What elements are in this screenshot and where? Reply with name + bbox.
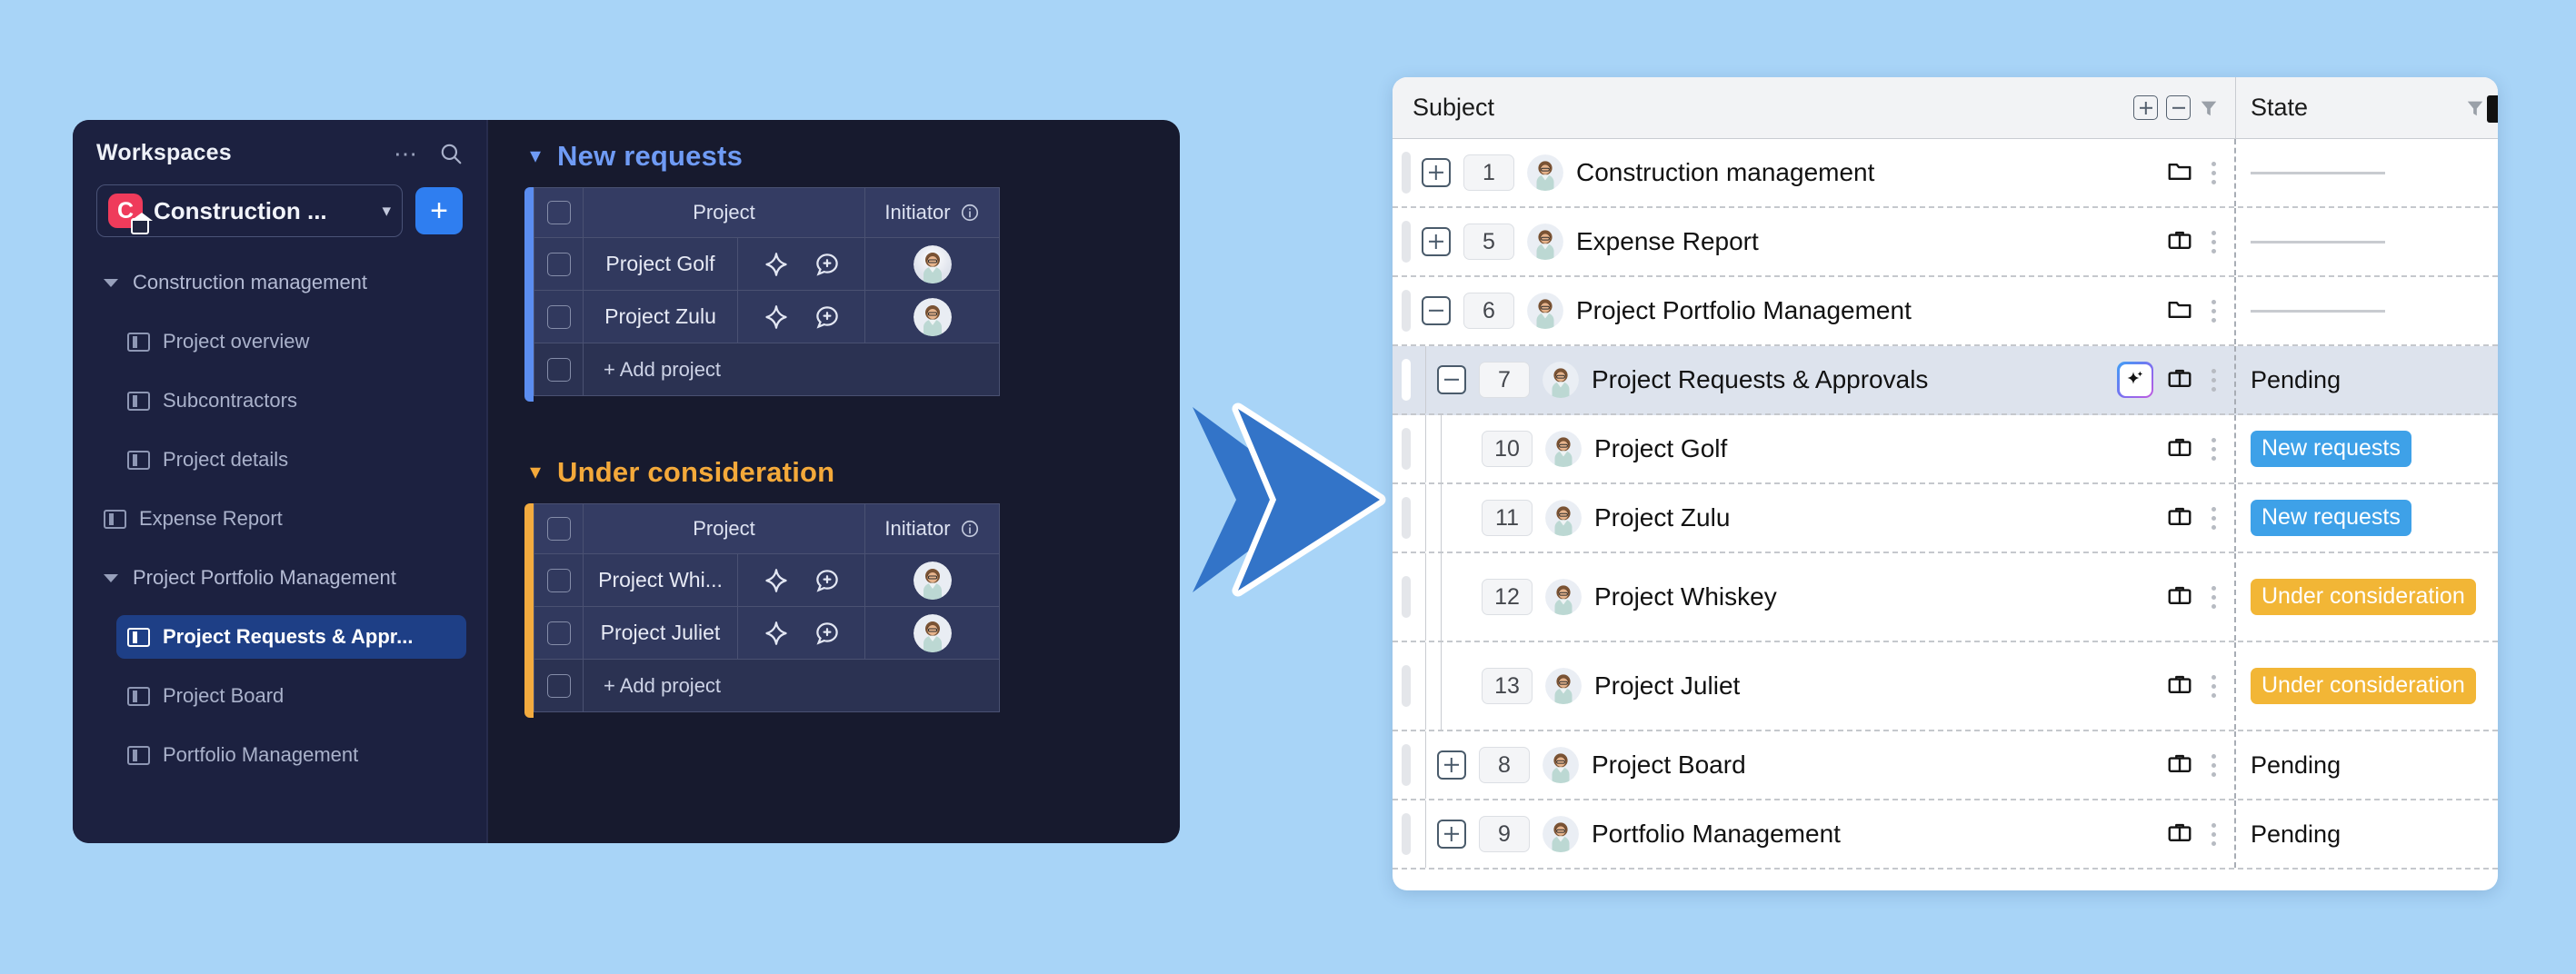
- sidebar-item-expense-report[interactable]: Expense Report: [93, 497, 466, 541]
- status-badge[interactable]: New requests: [2251, 431, 2411, 467]
- avatar: [1545, 431, 1582, 467]
- status-badge[interactable]: New requests: [2251, 500, 2411, 536]
- table-row[interactable]: Project Whi...: [534, 554, 1000, 607]
- group-header[interactable]: ▾ New requests: [488, 120, 1180, 173]
- sidebar-item-label: Project details: [163, 448, 288, 472]
- cell-initiator[interactable]: [865, 607, 1000, 660]
- briefcase-icon[interactable]: [2166, 226, 2193, 258]
- row-title: Project Whiskey: [1594, 582, 1777, 611]
- row-number: 9: [1479, 816, 1530, 852]
- row-title: Project Portfolio Management: [1576, 296, 1912, 325]
- sidebar-header: Workspaces ⋯: [73, 120, 486, 166]
- row-tools: [2166, 502, 2222, 534]
- table-row[interactable]: 12 Project Whiskey Under consideration: [1393, 553, 2498, 642]
- row-state-cell[interactable]: [2236, 139, 2498, 206]
- sparkle-icon[interactable]: [763, 251, 790, 278]
- row-checkbox[interactable]: [547, 569, 571, 592]
- select-all-checkbox[interactable]: [547, 201, 571, 224]
- row-drag-handle[interactable]: [1402, 665, 1411, 707]
- cell-initiator[interactable]: [865, 238, 1000, 291]
- briefcase-icon[interactable]: [2166, 750, 2193, 781]
- row-subject-cell: 5 Expense Report: [1393, 208, 2236, 275]
- row-tools: [2166, 295, 2222, 327]
- table-row[interactable]: Project Golf: [534, 238, 1000, 291]
- row-expander[interactable]: [1437, 365, 1466, 394]
- row-expander[interactable]: [1422, 296, 1451, 325]
- row-select-cell: [534, 660, 584, 712]
- state-empty-dash: [2251, 241, 2385, 243]
- filter-icon[interactable]: [2199, 98, 2219, 118]
- sidebar-item-label: Portfolio Management: [163, 743, 358, 767]
- sidebar-title: Workspaces: [96, 140, 232, 166]
- status-badge[interactable]: Under consideration: [2251, 579, 2476, 615]
- row-title: Project Golf: [1594, 434, 1727, 463]
- row-subject-cell: 6 Project Portfolio Management: [1393, 277, 2236, 344]
- state-value: Pending: [2251, 751, 2341, 780]
- add-project-label[interactable]: + Add project: [584, 660, 1000, 712]
- page-panel-icon: [127, 451, 150, 470]
- row-checkbox[interactable]: [547, 674, 571, 698]
- avatar: [1527, 224, 1563, 260]
- row-number: 8: [1479, 747, 1530, 783]
- row-state-cell[interactable]: [2236, 277, 2498, 344]
- row-subject-cell: 10 Project Golf: [1393, 415, 2236, 482]
- row-drag-handle[interactable]: [1402, 497, 1411, 539]
- workspace-name: Construction ...: [154, 197, 327, 225]
- row-menu-icon[interactable]: [2206, 823, 2222, 846]
- home-icon: [131, 218, 149, 234]
- row-state-cell[interactable]: Under consideration: [2236, 642, 2498, 730]
- group-table-wrap: Project Initiator Project Golf: [524, 187, 1180, 396]
- row-state-cell[interactable]: New requests: [2236, 415, 2498, 482]
- table-row[interactable]: 7 Project Requests & Approvals: [1393, 346, 2498, 415]
- row-menu-icon[interactable]: [2206, 300, 2222, 323]
- row-menu-icon[interactable]: [2206, 231, 2222, 253]
- folder-icon[interactable]: [2166, 295, 2193, 327]
- sidebar-item-label: Project overview: [163, 330, 309, 353]
- row-menu-icon[interactable]: [2206, 675, 2222, 698]
- row-title: Portfolio Management: [1592, 820, 1841, 849]
- table-row[interactable]: Project Zulu: [534, 291, 1000, 343]
- row-subject-cell: 1 Construction management: [1393, 139, 2236, 206]
- chevron-down-icon[interactable]: ▾: [530, 145, 541, 167]
- column-header-subject-label: Subject: [1413, 94, 1494, 122]
- row-tools: [2166, 157, 2222, 189]
- row-tools: [2166, 226, 2222, 258]
- row-state-cell[interactable]: Under consideration: [2236, 553, 2498, 641]
- row-number: 1: [1463, 154, 1514, 191]
- row-expander[interactable]: [1437, 820, 1466, 849]
- cell-row-actions: [738, 291, 865, 343]
- column-header-initiator[interactable]: Initiator: [865, 504, 1000, 554]
- row-checkbox[interactable]: [547, 358, 571, 382]
- row-number: 5: [1463, 224, 1514, 260]
- sidebar-item-label: Project Requests & Appr...: [163, 625, 413, 649]
- group-accent-bar: [524, 503, 534, 718]
- sidebar-item-project-overview[interactable]: Project overview: [116, 320, 466, 363]
- add-project-label[interactable]: + Add project: [584, 343, 1000, 396]
- row-number: 12: [1482, 579, 1533, 615]
- state-empty-dash: [2251, 310, 2385, 313]
- table-row[interactable]: 5 Expense Report: [1393, 208, 2498, 277]
- group-header[interactable]: ▾ Under consideration: [488, 436, 1180, 489]
- comment-add-icon[interactable]: [814, 567, 841, 594]
- row-drag-handle[interactable]: [1402, 152, 1411, 194]
- row-tools: [2166, 581, 2222, 613]
- row-subject-cell: 9 Portfolio Management: [1393, 800, 2236, 868]
- info-icon[interactable]: [960, 203, 980, 223]
- sparkle-icon[interactable]: [763, 567, 790, 594]
- cell-project-name[interactable]: Project Golf: [584, 238, 738, 291]
- avatar: [1545, 668, 1582, 704]
- page-panel-icon: [127, 628, 150, 647]
- row-tools: [2117, 362, 2222, 398]
- table-header-row: Project Initiator: [534, 504, 1000, 554]
- page-panel-icon: [127, 333, 150, 352]
- tree-guide-line: [1425, 800, 1426, 868]
- avatar: [914, 614, 952, 652]
- cell-row-actions: [738, 554, 865, 607]
- row-drag-handle[interactable]: [1402, 428, 1411, 470]
- more-horizontal-icon[interactable]: ⋯: [394, 147, 419, 160]
- row-subject-cell: 13 Project Juliet: [1393, 642, 2236, 730]
- row-expander[interactable]: [1422, 227, 1451, 256]
- table-header-row: Project Initiator: [534, 188, 1000, 238]
- cell-project-name[interactable]: Project Whi...: [584, 554, 738, 607]
- cell-row-actions: [738, 607, 865, 660]
- row-checkbox[interactable]: [547, 621, 571, 645]
- row-title: Construction management: [1576, 158, 1874, 187]
- row-title: Project Board: [1592, 750, 1746, 780]
- row-drag-handle[interactable]: [1402, 290, 1411, 332]
- comment-add-icon[interactable]: [814, 303, 841, 331]
- tree-guide-line: [1441, 553, 1442, 641]
- row-title: Project Juliet: [1594, 671, 1740, 701]
- add-project-row[interactable]: + Add project: [534, 660, 1000, 712]
- board-group-new-requests: ▾ New requests Project Ini: [488, 120, 1180, 396]
- row-expander[interactable]: [1422, 158, 1451, 187]
- sidebar-item-label: Expense Report: [139, 507, 283, 531]
- grid-card: Subject State: [1393, 77, 2498, 890]
- avatar: [1527, 293, 1563, 329]
- avatar: [1543, 816, 1579, 852]
- board-group-under-consideration: ▾ Under consideration Project: [488, 436, 1180, 712]
- column-header-project[interactable]: Project: [584, 504, 865, 554]
- state-empty-dash: [2251, 172, 2385, 174]
- row-tools: [2166, 750, 2222, 781]
- briefcase-icon[interactable]: [2166, 364, 2193, 396]
- row-state-cell[interactable]: [2236, 208, 2498, 275]
- sidebar-item-label: Project Board: [163, 684, 284, 708]
- board-main: ▾ New requests Project Ini: [488, 120, 1180, 843]
- cell-initiator[interactable]: [865, 554, 1000, 607]
- add-workspace-button[interactable]: +: [415, 187, 463, 234]
- row-state-cell[interactable]: New requests: [2236, 484, 2498, 552]
- group-title: Under consideration: [557, 456, 834, 489]
- chevron-down-icon: [104, 279, 118, 287]
- column-header-initiator[interactable]: Initiator: [865, 188, 1000, 238]
- row-state-cell[interactable]: Pending: [2236, 731, 2498, 799]
- briefcase-icon[interactable]: [2166, 581, 2193, 613]
- cell-row-actions: [738, 238, 865, 291]
- sidebar-item-project-details[interactable]: Project details: [116, 438, 466, 482]
- table-row[interactable]: 1 Construction management: [1393, 139, 2498, 208]
- group-table: Project Initiator Project Golf: [534, 187, 1000, 396]
- chevron-down-icon: [104, 574, 118, 582]
- row-menu-icon[interactable]: [2206, 438, 2222, 461]
- row-tools: [2166, 671, 2222, 702]
- state-value: Pending: [2251, 820, 2341, 849]
- row-menu-icon[interactable]: [2206, 369, 2222, 392]
- sidebar-item-label: Construction management: [133, 271, 367, 294]
- collapse-all-icon[interactable]: [2166, 95, 2191, 120]
- avatar: [914, 298, 952, 336]
- sidebar-item-label: Project Portfolio Management: [133, 566, 396, 590]
- arrow-right-transform-icon: [1182, 400, 1409, 600]
- row-subject-cell: 11 Project Zulu: [1393, 484, 2236, 552]
- column-header-initiator-label: Initiator: [884, 517, 950, 541]
- row-title: Expense Report: [1576, 227, 1759, 256]
- select-all-checkbox[interactable]: [547, 517, 571, 541]
- page-panel-icon: [127, 746, 150, 765]
- search-icon[interactable]: [439, 142, 463, 165]
- cell-project-name[interactable]: Project Juliet: [584, 607, 738, 660]
- avatar: [914, 562, 952, 600]
- row-number: 7: [1479, 362, 1530, 398]
- sidebar: Workspaces ⋯ C Construction: [73, 120, 488, 843]
- row-drag-handle[interactable]: [1402, 359, 1411, 401]
- workspace-switcher-row: C Construction ... ▾ +: [73, 166, 486, 237]
- group-table: Project Initiator Project Whi...: [534, 503, 1000, 712]
- table-row[interactable]: 13 Project Juliet Under consideration: [1393, 642, 2498, 731]
- page-panel-icon: [127, 687, 150, 706]
- column-header-initiator-label: Initiator: [884, 201, 950, 224]
- row-menu-icon[interactable]: [2206, 162, 2222, 184]
- sidebar-item-portfolio-management[interactable]: Portfolio Management: [116, 733, 466, 777]
- avatar: [1545, 579, 1582, 615]
- screenshot-stage: Workspaces ⋯ C Construction: [0, 0, 2576, 974]
- avatar: [914, 245, 952, 283]
- avatar: [1543, 362, 1579, 398]
- row-title: Project Requests & Approvals: [1592, 365, 1928, 394]
- table-row[interactable]: 6 Project Portfolio Management: [1393, 277, 2498, 346]
- group-title: New requests: [557, 140, 743, 173]
- row-drag-handle[interactable]: [1402, 576, 1411, 618]
- cell-project-name[interactable]: Project Zulu: [584, 291, 738, 343]
- folder-icon[interactable]: [2166, 157, 2193, 189]
- state-header-tools: [2465, 98, 2485, 118]
- vertical-scrollbar-thumb[interactable]: [2487, 95, 2498, 123]
- row-number: 10: [1482, 431, 1533, 467]
- column-header-state[interactable]: State: [2236, 77, 2498, 138]
- briefcase-icon[interactable]: [2166, 671, 2193, 702]
- row-drag-handle[interactable]: [1402, 744, 1411, 786]
- sidebar-item-subcontractors[interactable]: Subcontractors: [116, 379, 466, 422]
- row-select-cell: [534, 291, 584, 343]
- add-project-row[interactable]: + Add project: [534, 343, 1000, 396]
- column-header-subject[interactable]: Subject: [1393, 77, 2236, 138]
- row-state-cell[interactable]: Pending: [2236, 346, 2498, 413]
- grid-header: Subject State: [1393, 77, 2498, 139]
- sparkle-icon[interactable]: [763, 620, 790, 647]
- group-table-wrap: Project Initiator Project Whi...: [524, 503, 1180, 712]
- page-panel-icon: [127, 392, 150, 411]
- sidebar-nav-list: Construction management Project overview…: [73, 237, 486, 777]
- row-number: 13: [1482, 668, 1533, 704]
- sidebar-header-actions: ⋯: [394, 142, 463, 165]
- row-subject-cell: 7 Project Requests & Approvals: [1393, 346, 2236, 413]
- sparkle-icon[interactable]: [763, 303, 790, 331]
- briefcase-icon[interactable]: [2166, 502, 2193, 534]
- row-drag-handle[interactable]: [1402, 813, 1411, 855]
- status-badge[interactable]: Under consideration: [2251, 668, 2476, 704]
- sidebar-item-project-requests-approvals[interactable]: Project Requests & Appr...: [116, 615, 466, 659]
- column-header-state-label: State: [2251, 94, 2308, 122]
- comment-add-icon[interactable]: [814, 620, 841, 647]
- filter-icon[interactable]: [2465, 98, 2485, 118]
- row-title: Project Zulu: [1594, 503, 1730, 532]
- row-expander[interactable]: [1437, 750, 1466, 780]
- subject-header-tools: [2133, 95, 2219, 120]
- chevron-down-icon[interactable]: ▾: [530, 462, 541, 483]
- briefcase-icon[interactable]: [2166, 433, 2193, 465]
- row-select-cell: [534, 343, 584, 396]
- cell-initiator[interactable]: [865, 291, 1000, 343]
- tree-guide-line: [1441, 484, 1442, 552]
- row-tools: [2166, 433, 2222, 465]
- row-number: 11: [1482, 500, 1533, 536]
- info-icon[interactable]: [960, 519, 980, 539]
- row-tools: [2166, 819, 2222, 850]
- tree-guide-line: [1425, 484, 1426, 552]
- select-all-header: [534, 504, 584, 554]
- row-number: 6: [1463, 293, 1514, 329]
- tree-guide-line: [1425, 415, 1426, 482]
- row-checkbox[interactable]: [547, 305, 571, 329]
- comment-add-icon[interactable]: [814, 251, 841, 278]
- row-select-cell: [534, 607, 584, 660]
- sidebar-item-project-board[interactable]: Project Board: [116, 674, 466, 718]
- row-select-cell: [534, 238, 584, 291]
- table-row[interactable]: 8 Project Board Pending: [1393, 731, 2498, 800]
- briefcase-icon[interactable]: [2166, 819, 2193, 850]
- avatar: [1527, 154, 1563, 191]
- row-menu-icon[interactable]: [2206, 507, 2222, 530]
- table-row[interactable]: 10 Project Golf New requests: [1393, 415, 2498, 484]
- group-accent-bar: [524, 187, 534, 402]
- tree-guide-line: [1425, 642, 1426, 730]
- expand-all-icon[interactable]: [2133, 95, 2158, 120]
- tree-guide-line: [1425, 346, 1426, 413]
- column-header-project[interactable]: Project: [584, 188, 865, 238]
- avatar: [1543, 747, 1579, 783]
- workspace-select[interactable]: C Construction ... ▾: [96, 184, 403, 237]
- sidebar-item-label: Subcontractors: [163, 389, 297, 412]
- dark-app-card: Workspaces ⋯ C Construction: [73, 120, 1180, 843]
- row-subject-cell: 8 Project Board: [1393, 731, 2236, 799]
- tree-guide-line: [1425, 731, 1426, 799]
- row-drag-handle[interactable]: [1402, 221, 1411, 263]
- table-row[interactable]: 11 Project Zulu New requests: [1393, 484, 2498, 553]
- select-all-header: [534, 188, 584, 238]
- tree-guide-line: [1425, 553, 1426, 641]
- sidebar-group-construction-management[interactable]: Construction management: [93, 261, 466, 304]
- grid-body: 1 Construction management: [1393, 139, 2498, 870]
- row-select-cell: [534, 554, 584, 607]
- page-panel-icon: [104, 510, 126, 529]
- sidebar-group-project-portfolio-management[interactable]: Project Portfolio Management: [93, 556, 466, 600]
- tree-guide-line: [1441, 415, 1442, 482]
- table-row[interactable]: Project Juliet: [534, 607, 1000, 660]
- row-menu-icon[interactable]: [2206, 754, 2222, 777]
- row-checkbox[interactable]: [547, 253, 571, 276]
- row-state-cell[interactable]: Pending: [2236, 800, 2498, 868]
- workspace-logo: C: [108, 194, 143, 228]
- state-value: Pending: [2251, 366, 2341, 394]
- table-row[interactable]: 9 Portfolio Management Pending: [1393, 800, 2498, 870]
- ai-sparkle-icon[interactable]: [2117, 362, 2153, 398]
- tree-guide-line: [1441, 642, 1442, 730]
- row-menu-icon[interactable]: [2206, 586, 2222, 609]
- avatar: [1545, 500, 1582, 536]
- chevron-down-icon[interactable]: ▾: [382, 201, 391, 222]
- row-subject-cell: 12 Project Whiskey: [1393, 553, 2236, 641]
